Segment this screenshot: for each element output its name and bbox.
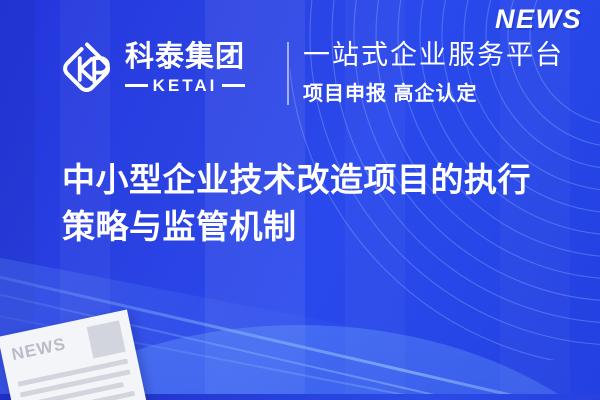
wordmark-rule-right — [222, 84, 245, 87]
ketai-diamond-kd-monogram-icon — [58, 40, 116, 98]
article-title: 中小型企业技术改造项目的执行策略与监管机制 — [62, 157, 562, 251]
brand-tagline: 一站式企业服务平台 项目申报 高企认定 — [303, 40, 564, 106]
brand-wordmark: 科泰集团 KETAI — [125, 42, 245, 95]
tagline-main: 一站式企业服务平台 — [303, 40, 564, 71]
brand-name-cn: 科泰集团 — [125, 42, 245, 72]
news-banner: 科泰集团 KETAI 一站式企业服务平台 项目申报 高企认定 NEWS 中小型企… — [0, 0, 600, 400]
brand-name-en: KETAI — [153, 76, 218, 96]
header-divider — [287, 42, 289, 105]
wordmark-rule-left — [125, 84, 148, 87]
brand-logo[interactable]: 科泰集团 KETAI — [58, 40, 245, 98]
brand-name-en-row: KETAI — [125, 76, 245, 96]
newspaper-thumbnail — [87, 320, 126, 358]
tagline-sub: 项目申报 高企认定 — [303, 77, 564, 106]
banner-header: 科泰集团 KETAI 一站式企业服务平台 项目申报 高企认定 NEWS — [0, 0, 600, 132]
newspaper-masthead: NEWS — [10, 335, 67, 363]
news-badge: NEWS — [495, 4, 582, 35]
